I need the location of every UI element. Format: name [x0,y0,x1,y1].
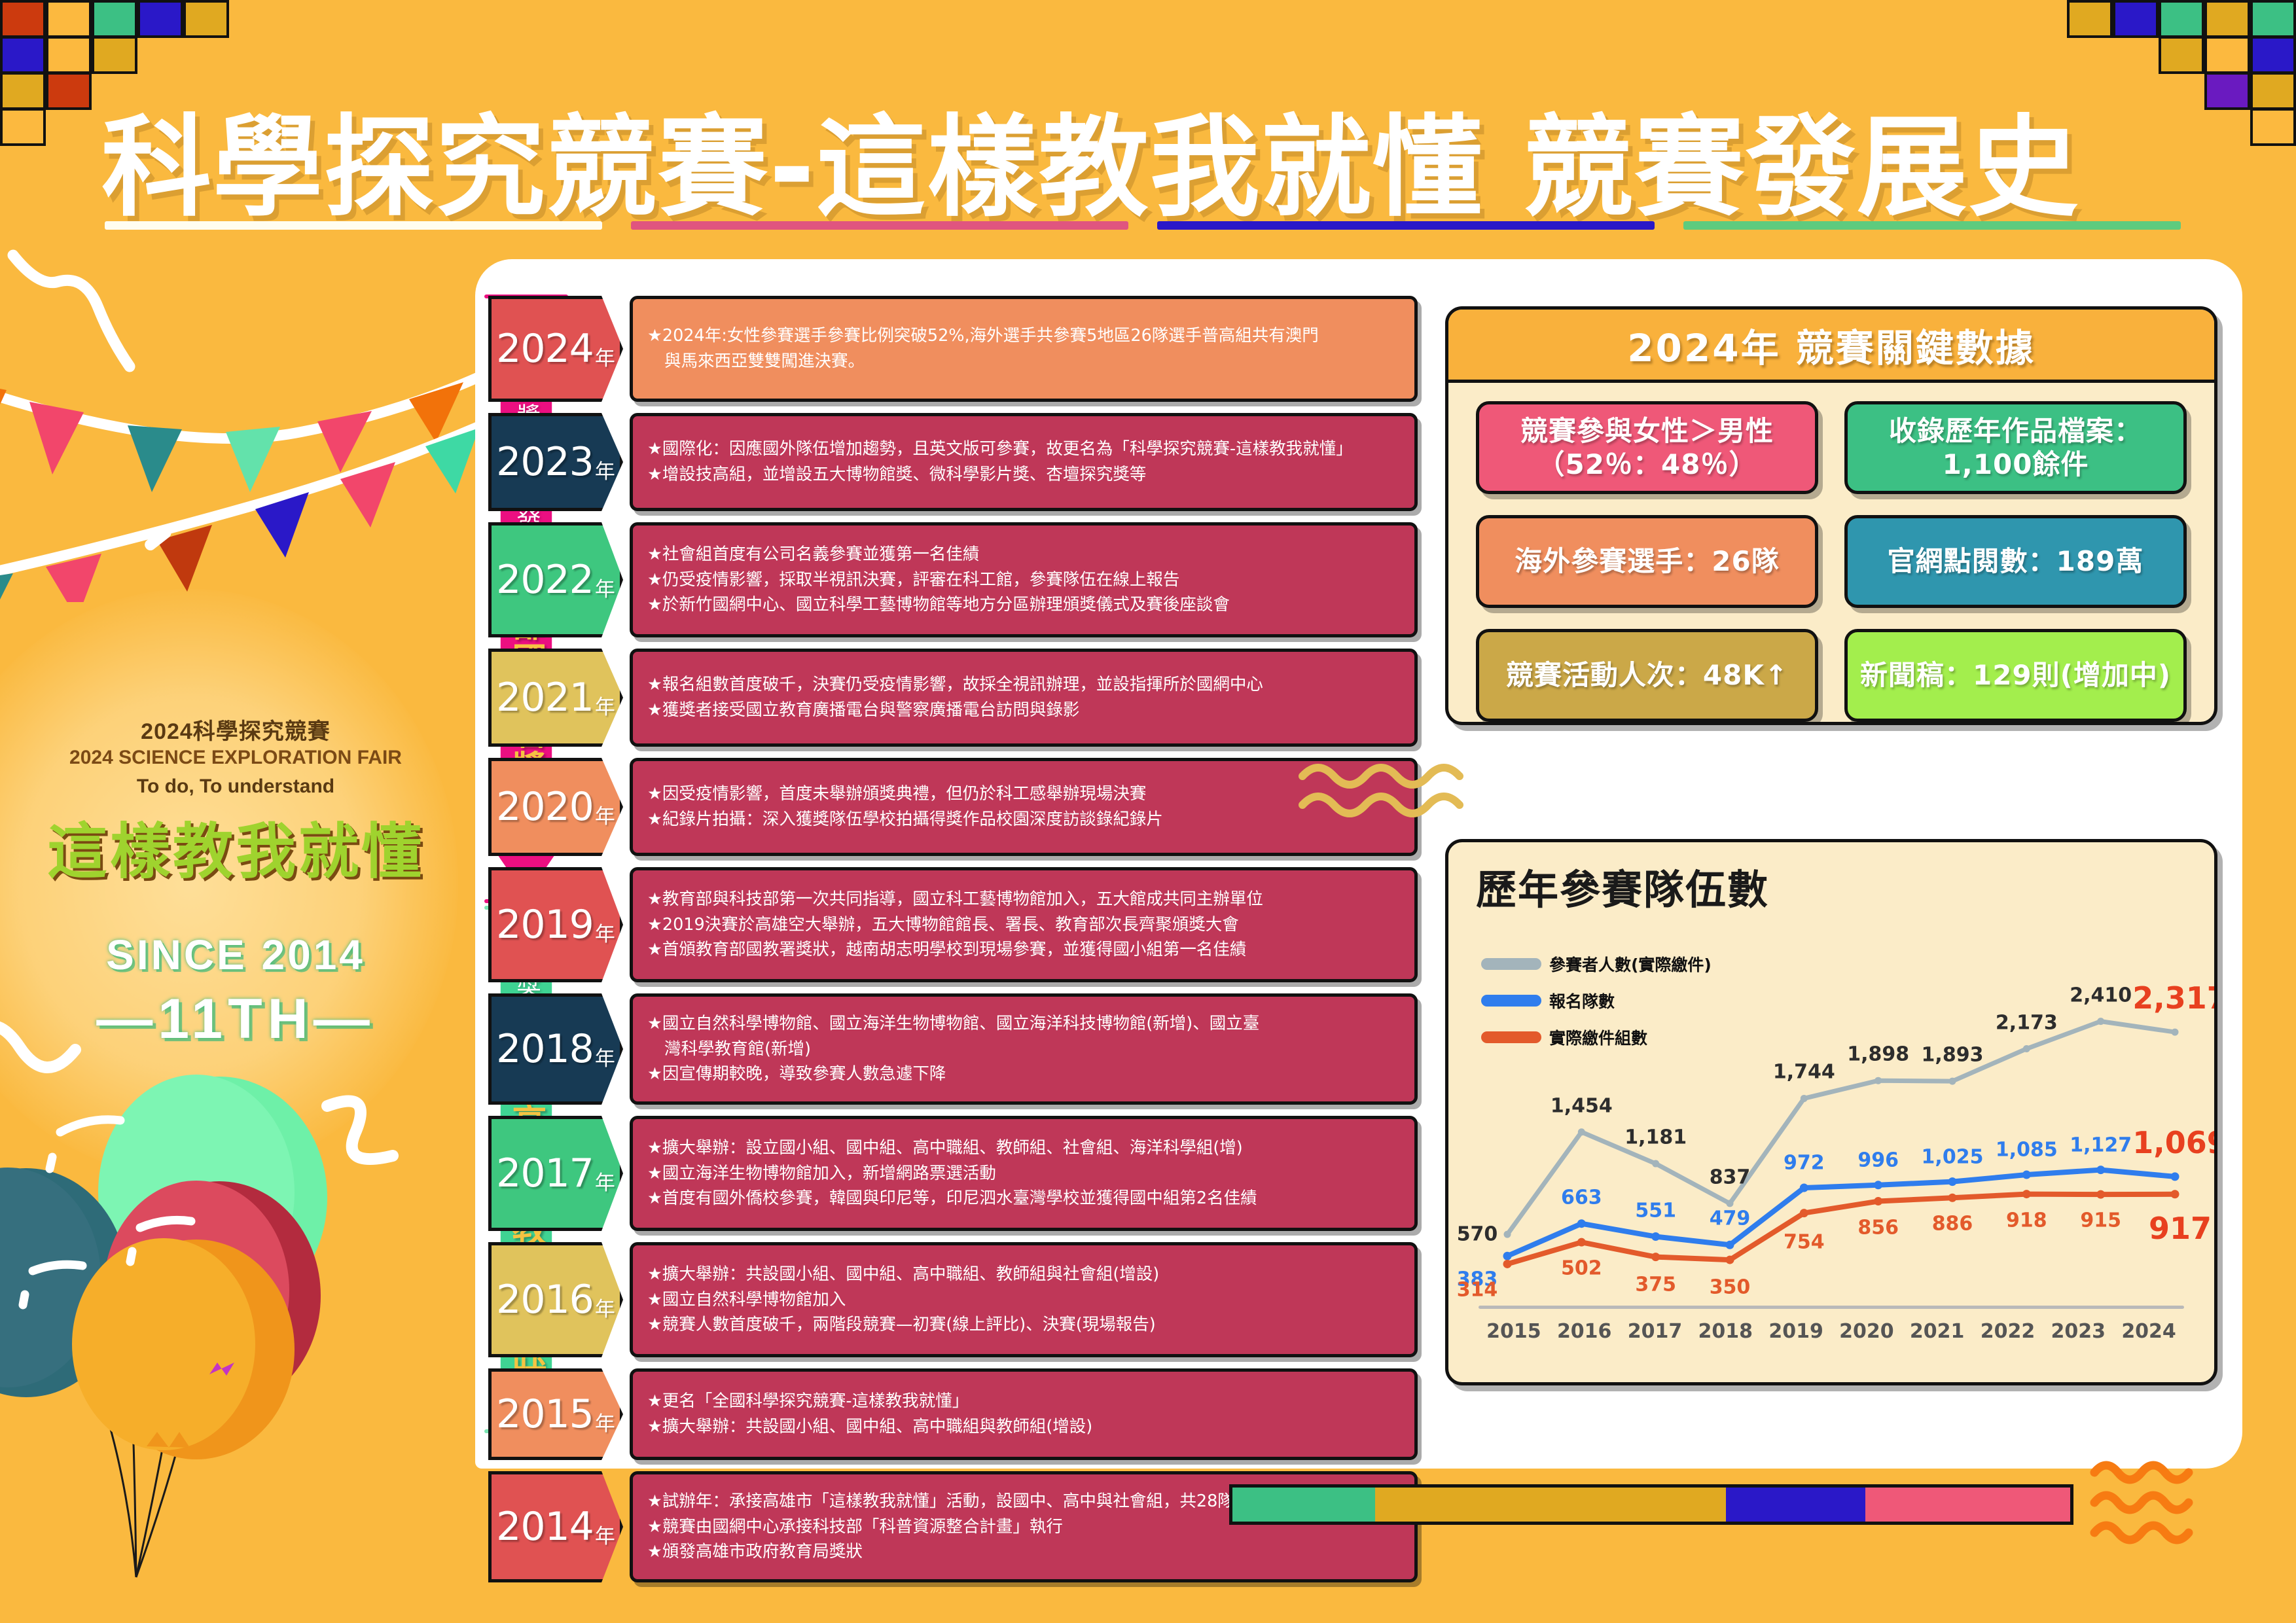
timeline-row: 2018年★國立自然科學博物館、國立海洋生物博物館、國立海洋科技博物館(新增)、… [488,993,1418,1105]
chart-data-point [1949,1078,1956,1085]
chart-data-label: 915 [2080,1209,2121,1232]
chart-data-point [2171,1172,2179,1181]
timeline-line: ★擴大舉辦：共設國小組、國中組、高中職組與教師組(增設) [647,1414,1400,1440]
chart-x-tick: 2015 [1479,1320,1549,1343]
timeline-line: ★教育部與科技部第一次共同指導，國立科工藝博物館加入，五大館成共同主辦單位 [647,887,1400,912]
chart-data-point [1577,1219,1586,1228]
timeline-year-suffix: 年 [595,1505,615,1549]
chart-series-line [1507,1170,2175,1257]
timeline-description: ★擴大舉辦：設立國小組、國中組、高中職組、教師組、社會組、海洋科學組(增)★國立… [630,1116,1418,1231]
timeline-description: ★2024年:女性參賽選手參賽比例突破52%,海外選手共參賽5地區26隊選手普高… [630,296,1418,402]
chart-x-tick: 2016 [1549,1320,1620,1343]
pixel-square [2250,72,2296,110]
key-stat-label: 收錄歷年作品檔案： [1889,414,2142,448]
bottom-bar-segment [1865,1488,2070,1522]
timeline-description: ★國際化：因應國外隊伍增加趨勢，且英文版可參賽，故更名為「科學探究競賽-這樣教我… [630,413,1418,511]
timeline-line: ★首頒教育部國教署獎狀，越南胡志明學校到現場參賽，並獲得國小組第一名佳績 [647,937,1400,963]
chart-data-point [1504,1231,1511,1238]
timeline-row: 2019年★教育部與科技部第一次共同指導，國立科工藝博物館加入，五大館成共同主辦… [488,867,1418,982]
timeline-year: 2018 [496,1026,594,1072]
bottom-bar-segment [1375,1488,1726,1522]
page-title: 科學探究競賽-這樣教我就懂 競賽發展史 [101,79,2196,216]
timeline-year-badge: 2015年 [488,1368,623,1460]
chart-data-label: 2,173 [1996,1011,2058,1034]
chart-data-point [2096,1190,2105,1199]
bottom-color-bar [1229,1484,2073,1525]
rule-blue [1157,221,1655,230]
logo-year-line: 2024科學探究競賽 [26,713,445,745]
timeline-year: 2015 [496,1391,594,1437]
chart-data-point [1652,1160,1659,1168]
chart-data-point [1800,1209,1808,1217]
chart-data-point [2022,1190,2031,1198]
chart-data-point [1726,1256,1734,1264]
timeline-line: 灣科學教育館(新增) [647,1037,1400,1062]
timeline-year-badge: 2022年 [488,522,623,637]
timeline: 2024年★2024年:女性參賽選手參賽比例突破52%,海外選手共參賽5地區26… [488,296,1418,1594]
timeline-year-badge: 2017年 [488,1116,623,1231]
chart-card: 歷年參賽隊伍數 參賽者人數(實際繳件)報名隊數實際繳件組數 2015201620… [1445,839,2217,1385]
chart-data-label: 1,454 [1551,1094,1613,1117]
timeline-year-suffix: 年 [595,1027,615,1071]
timeline-year-suffix: 年 [595,676,615,720]
pixel-square [2204,36,2250,74]
chart-x-tick: 2018 [1690,1320,1761,1343]
chart-data-label: 1,181 [1624,1126,1687,1149]
pixel-square [2159,0,2204,38]
timeline-year: 2024 [496,326,594,372]
timeline-line: ★獲獎者接受國立教育廣播電台與警察廣播電台訪問與錄影 [647,698,1400,723]
chart-data-point [1651,1253,1660,1261]
key-stat-label: 海外參賽選手：26隊 [1515,544,1779,578]
chart-data-point [1503,1252,1512,1260]
chart-data-point [1578,1128,1585,1135]
timeline-line: ★因宣傳期較晚，導致參賽人數急遽下降 [647,1061,1400,1087]
chart-data-point [2096,1166,2105,1174]
logo-since: SINCE 2014 [26,931,445,979]
chart-data-point [1727,1200,1734,1207]
pixel-square [46,36,92,74]
chart-data-point [1874,1077,1882,1084]
chart-x-tick-labels: 2015201620172018201920202021202220232024 [1479,1320,2184,1343]
timeline-year: 2022 [496,557,594,603]
title-rules [105,221,2193,232]
pixel-square [46,72,92,110]
timeline-line: ★2024年:女性參賽選手參賽比例突破52%,海外選手共參賽5地區26隊選手普高… [647,323,1400,349]
chart-x-tick: 2024 [2113,1320,2184,1343]
timeline-row: 2023年★國際化：因應國外隊伍增加趨勢，且英文版可參賽，故更名為「科學探究競賽… [488,413,1418,511]
timeline-row: 2021年★報名組數首度破千，決賽仍受疫情影響，故採全視訊辦理，並設指揮所於國網… [488,649,1418,747]
key-stat-box: 競賽參與女性＞男性（52％：48％） [1476,401,1818,494]
chart-x-tick: 2022 [1973,1320,2043,1343]
pixel-square [2113,0,2159,38]
timeline-year-badge: 2023年 [488,413,623,511]
key-stat-label: 官網點閱數：189萬 [1888,544,2144,578]
key-stats-title: 2024年 競賽關鍵數據 [1448,310,2214,383]
chart-data-label: 1,898 [1847,1043,1909,1066]
timeline-year-badge: 2018年 [488,993,623,1105]
chart-data-label: 2,410 [2070,984,2132,1007]
chart-data-label: 996 [1857,1149,1899,1171]
timeline-row: 2017年★擴大舉辦：設立國小組、國中組、高中職組、教師組、社會組、海洋科學組(… [488,1116,1418,1231]
timeline-row: 2022年★社會組首度有公司名義參賽並獲第一名佳績★仍受疫情影響，採取半視訊決賽… [488,522,1418,637]
chart-data-point [1874,1181,1882,1189]
timeline-description: ★更名「全國科學探究競賽-這樣教我就懂」★擴大舉辦：共設國小組、國中組、高中職組… [630,1368,1418,1460]
chart-data-label: 663 [1561,1186,1602,1209]
timeline-year-badge: 2016年 [488,1242,623,1357]
timeline-description: ★擴大舉辦：共設國小組、國中組、高中職組、教師組與社會組(增設)★國立自然科學博… [630,1242,1418,1357]
chart-data-point [1800,1184,1808,1192]
chart-x-axis [1479,1306,2184,1309]
chart-x-tick: 2021 [1902,1320,1973,1343]
chart-data-label: 1,069 [2132,1125,2217,1160]
chart-data-label: 375 [1635,1273,1676,1296]
pixel-square [0,0,46,38]
timeline-year-suffix: 年 [595,785,615,829]
chart-data-label: 754 [1784,1230,1825,1253]
chart-data-label: 1,025 [1922,1145,1984,1168]
chart-data-label: 918 [2006,1209,2047,1232]
chart-x-tick: 2023 [2043,1320,2113,1343]
key-stat-label: （52％：48％） [1537,448,1757,481]
key-stat-box: 競賽活動人次：48K↑ [1476,629,1818,722]
chart-data-label: 502 [1561,1257,1602,1280]
pixel-square [2204,72,2250,110]
timeline-line: ★於新竹國網中心、國立科學工藝博物館等地方分區辦理頒獎儀式及賽後座談會 [647,592,1400,618]
chart-data-label: 1,744 [1773,1061,1835,1084]
timeline-row: 2015年★更名「全國科學探究競賽-這樣教我就懂」★擴大舉辦：共設國小組、國中組… [488,1368,1418,1460]
timeline-year: 2023 [496,439,594,485]
timeline-year: 2016 [496,1277,594,1323]
timeline-line: ★頒發高雄市政府教育局獎狀 [647,1539,1400,1565]
chart-data-label: 856 [1857,1216,1899,1239]
rule-pink [631,221,1128,230]
rule-white [105,221,602,230]
chart-x-tick: 2020 [1831,1320,1902,1343]
timeline-line: ★更名「全國科學探究競賽-這樣教我就懂」 [647,1389,1400,1414]
chart-data-point [1651,1232,1660,1241]
timeline-line: ★國立自然科學博物館、國立海洋生物博物館、國立海洋科技博物館(新增)、國立臺 [647,1011,1400,1037]
chart-data-label: 1,085 [1996,1139,2058,1162]
pixel-square [2250,0,2296,38]
timeline-line: ★首度有國外僑校參賽，韓國與印尼等，印尼泗水臺灣學校並獲得國中組第2名佳績 [647,1186,1400,1211]
timeline-line: ★增設技高組，並增設五大博物館獎、微科學影片獎、杏壇探究獎等 [647,462,1400,488]
key-stat-label: 競賽活動人次：48K↑ [1506,658,1788,692]
pixel-square [0,108,46,146]
timeline-year-suffix: 年 [595,440,615,484]
timeline-line: ★紀錄片拍攝：深入獲獎隊伍學校拍攝得獎作品校園深度訪談錄紀錄片 [647,807,1400,832]
timeline-description: ★社會組首度有公司名義參賽並獲第一名佳績★仍受疫情影響，採取半視訊決賽，評審在科… [630,522,1418,637]
pixel-square [92,36,137,74]
chart-data-label: 1,127 [2070,1133,2132,1156]
chart-data-label: 972 [1784,1152,1825,1175]
timeline-year-suffix: 年 [595,1152,615,1196]
timeline-row: 2016年★擴大舉辦：共設國小組、國中組、高中職組、教師組與社會組(增設)★國立… [488,1242,1418,1357]
bottom-bar-segment [1232,1488,1375,1522]
timeline-year-suffix: 年 [595,903,615,947]
timeline-year-badge: 2020年 [488,758,623,856]
poster-root: 科學探究競賽-這樣教我就懂 競賽發展史 2024科學探究競賽 2024 SCIE… [0,0,2296,1623]
key-stat-box: 官網點閱數：189萬 [1844,515,2187,608]
wave-decoration-right [2087,1458,2237,1556]
timeline-line: 與馬來西亞雙雙闖進決賽。 [647,349,1400,374]
event-logo: 2024科學探究競賽 2024 SCIENCE EXPLORATION FAIR… [26,713,445,1052]
timeline-year-suffix: 年 [595,327,615,371]
timeline-line: ★仍受疫情影響，採取半視訊決賽，評審在科工館，參賽隊伍在線上報告 [647,567,1400,593]
chart-data-label: 570 [1457,1223,1498,1246]
timeline-line: ★因受疫情影響，首度未舉辦頒獎典禮，但仍於科工感舉辦現場決賽 [647,781,1400,807]
chart-data-point [2097,1018,2104,1025]
chart-x-tick: 2019 [1761,1320,1831,1343]
logo-tagline: To do, To understand [26,776,445,798]
timeline-line: ★2019決賽於高雄空大舉辦，五大博物館館長、署長、教育部次長齊聚頒獎大會 [647,912,1400,938]
chart-data-label: 314 [1457,1279,1498,1302]
timeline-line: ★擴大舉辦：共設國小組、國中組、高中職組、教師組與社會組(增設) [647,1262,1400,1287]
pixel-decoration-top-right [2067,0,2296,151]
timeline-year-badge: 2019年 [488,867,623,982]
timeline-line: ★競賽人數首度破千，兩階段競賽—初賽(線上評比)、決賽(現場報告) [647,1312,1400,1338]
timeline-row: 2024年★2024年:女性參賽選手參賽比例突破52%,海外選手共參賽5地區26… [488,296,1418,402]
chart-data-label: 1,893 [1922,1044,1984,1067]
pixel-square [2067,0,2113,38]
pixel-square [2204,0,2250,38]
chart-data-point [1874,1197,1882,1205]
chart-data-point [2023,1045,2030,1052]
key-stat-label: 1,100餘件 [1943,448,2089,481]
timeline-year-badge: 2014年 [488,1471,623,1582]
chart-data-point [2172,1029,2179,1036]
chart-data-point [1503,1260,1512,1268]
chart-data-point [1726,1241,1734,1249]
logo-edition: —11TH— [26,987,445,1052]
pixel-square [0,36,46,74]
timeline-description: ★國立自然科學博物館、國立海洋生物博物館、國立海洋科技博物館(新增)、國立臺灣科… [630,993,1418,1105]
chart-series-line [1507,1022,2175,1235]
timeline-line: ★報名組數首度破千，決賽仍受疫情影響，故採全視訊辦理，並設指揮所於國網中心 [647,672,1400,698]
bottom-bar-segment [1726,1488,1865,1522]
chart-data-point [2171,1190,2179,1198]
timeline-year-badge: 2021年 [488,649,623,747]
timeline-line: ★擴大舉辦：設立國小組、國中組、高中職組、教師組、社會組、海洋科學組(增) [647,1135,1400,1161]
timeline-year: 2019 [496,902,594,948]
chart-data-point [2022,1171,2031,1179]
logo-wordmark: 這樣教我就懂 [26,803,445,890]
key-stat-box: 海外參賽選手：26隊 [1476,515,1818,608]
pixel-square [92,0,137,38]
rule-green [1683,221,2181,230]
pixel-square [2250,108,2296,146]
chart-data-point [1948,1177,1957,1186]
timeline-year: 2017 [496,1150,594,1196]
timeline-year: 2020 [496,784,594,830]
timeline-line: ★國立自然科學博物館加入 [647,1287,1400,1313]
pixel-square [137,0,183,38]
timeline-year-suffix: 年 [595,1393,615,1436]
timeline-year-suffix: 年 [595,558,615,602]
timeline-row: 2020年★因受疫情影響，首度未舉辦頒獎典禮，但仍於科工感舉辦現場決賽★紀錄片拍… [488,758,1418,856]
timeline-description: ★教育部與科技部第一次共同指導，國立科工藝博物館加入，五大館成共同主辦單位★20… [630,867,1418,982]
chart-data-label: 886 [1932,1213,1973,1236]
pixel-square [2159,36,2204,74]
balloons-decoration [0,1021,484,1610]
pixel-square [183,0,229,38]
pixel-square [0,72,46,110]
key-stat-label: 競賽參與女性＞男性 [1520,414,1774,448]
chart-data-label: 837 [1710,1166,1751,1188]
timeline-line: ★國際化：因應國外隊伍增加趨勢，且英文版可參賽，故更名為「科學探究競賽-這樣教我… [647,437,1400,462]
key-stat-box: 新聞稿：129則(增加中) [1844,629,2187,722]
timeline-year-badge: 2024年 [488,296,623,402]
timeline-year: 2021 [496,675,594,721]
chart-data-point [1801,1095,1808,1102]
chart-data-label: 551 [1635,1199,1676,1222]
chart-data-point [1948,1194,1957,1202]
logo-english-line: 2024 SCIENCE EXPLORATION FAIR [26,747,445,769]
chart-data-point [1577,1238,1586,1247]
key-stats-card: 2024年 競賽關鍵數據 競賽參與女性＞男性（52％：48％）收錄歷年作品檔案：… [1445,306,2217,725]
chart-data-label: 350 [1710,1276,1751,1299]
timeline-year-suffix: 年 [595,1278,615,1322]
timeline-description: ★報名組數首度破千，決賽仍受疫情影響，故採全視訊辦理，並設指揮所於國網中心★獲獎… [630,649,1418,747]
pixel-square [2250,36,2296,74]
pixel-decoration-top-left [0,0,236,151]
chart-data-label: 479 [1710,1207,1751,1230]
key-stat-label: 新聞稿：129則(增加中) [1860,658,2171,692]
key-stats-grid: 競賽參與女性＞男性（52％：48％）收錄歷年作品檔案：1,100餘件海外參賽選手… [1448,383,2214,722]
timeline-line: ★國立海洋生物博物館加入，新增網路票選活動 [647,1161,1400,1186]
chart-data-label: 917 [2149,1211,2212,1246]
chart-x-tick: 2017 [1620,1320,1691,1343]
timeline-line: ★社會組首度有公司名義參賽並獲第一名佳績 [647,542,1400,567]
pixel-square [46,0,92,38]
timeline-year: 2014 [496,1504,594,1550]
key-stat-box: 收錄歷年作品檔案：1,100餘件 [1844,401,2187,494]
chart-data-label: 2,317 [2132,980,2217,1016]
wave-decoration-mid [1296,759,1492,844]
